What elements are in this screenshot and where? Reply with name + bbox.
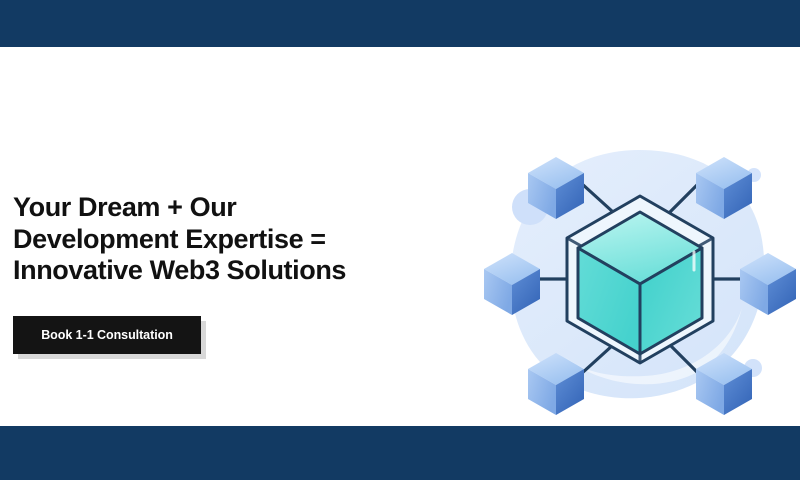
hero-content: Your Dream + Our Development Expertise =…	[13, 192, 433, 354]
cta-wrapper: Book 1-1 Consultation	[13, 316, 201, 354]
page-title: Your Dream + Our Development Expertise =…	[13, 192, 433, 287]
hero-banner: Your Dream + Our Development Expertise =…	[0, 0, 800, 480]
illustration-svg	[480, 120, 800, 420]
blockchain-network-illustration	[480, 120, 800, 420]
top-navy-bar	[0, 0, 800, 47]
book-consultation-button[interactable]: Book 1-1 Consultation	[13, 316, 201, 354]
bottom-navy-bar	[0, 426, 800, 480]
